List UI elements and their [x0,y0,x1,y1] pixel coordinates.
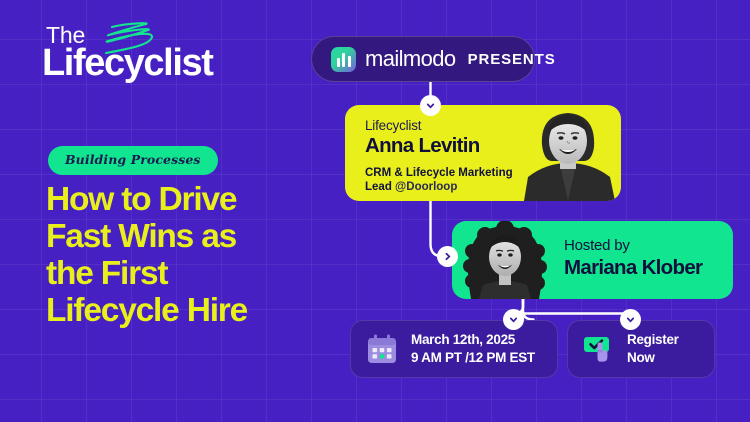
chevron-down-icon [625,314,636,325]
register-label: Register Now [627,331,679,366]
webinar-promo-poster: The Lifecyclist Building Processes How t… [0,0,750,422]
category-badge: Building Processes [48,146,218,175]
speaker-card: Lifecyclist Anna Levitin CRM & Lifecycle… [345,105,621,201]
webinar-time: 9 AM PT /12 PM EST [411,349,535,367]
lifecyclist-logo: The Lifecyclist [42,24,292,82]
mailmodo-logo-icon [331,47,356,72]
host-info: Hosted by Mariana Klober [564,237,702,280]
page-title: How to Drive Fast Wins as the First Life… [46,182,336,329]
category-badge-label: Building Processes [65,152,201,167]
register-label-line2: Now [627,349,679,367]
chevron-down-icon [508,314,519,325]
host-photo [461,221,549,299]
chevron-down-icon [425,100,436,111]
register-card[interactable]: Register Now [567,320,715,378]
host-name: Mariana Klober [564,256,702,280]
hosted-by-label: Hosted by [564,237,702,254]
webinar-date: March 12th, 2025 [411,331,535,349]
host-card: Hosted by Mariana Klober [452,221,733,299]
date-time-card: March 12th, 2025 9 AM PT /12 PM EST [350,320,558,378]
speaker-role: Lifecyclist [365,118,513,133]
connector-node-host-to-register [620,309,641,330]
click-checkbox-icon [582,334,616,364]
headline-line-2: Fast Wins as [46,219,336,256]
speaker-info: Lifecyclist Anna Levitin CRM & Lifecycle… [365,118,513,194]
speaker-photo [516,105,621,201]
speaker-name: Anna Levitin [365,134,513,158]
mailmodo-brand-label: mailmodo [365,46,456,72]
speaker-title-line1: CRM & Lifecycle Marketing [365,167,513,179]
register-label-line1: Register [627,331,679,349]
headline-line-4: Lifecycle Hire [46,293,336,330]
presents-label: PRESENTS [468,51,556,68]
logo-the-text: The [42,24,292,47]
logo-lifecyclist-text: Lifecyclist [42,44,292,82]
connector-node-presents-to-speaker [420,95,441,116]
date-time-text: March 12th, 2025 9 AM PT /12 PM EST [411,331,535,366]
headline-line-1: How to Drive [46,182,336,219]
speaker-title-role: Lead [365,181,392,193]
mailmodo-presents-badge: mailmodo PRESENTS [311,36,535,82]
calendar-icon [365,333,399,365]
headline-line-3: the First [46,256,336,293]
connector-node-host-to-date [503,309,524,330]
connector-node-speaker-to-host [437,246,458,267]
speaker-company-handle: @Doorloop [395,181,457,193]
speaker-title: CRM & Lifecycle Marketing Lead @Doorloop [365,166,513,194]
chevron-right-icon [442,251,453,262]
